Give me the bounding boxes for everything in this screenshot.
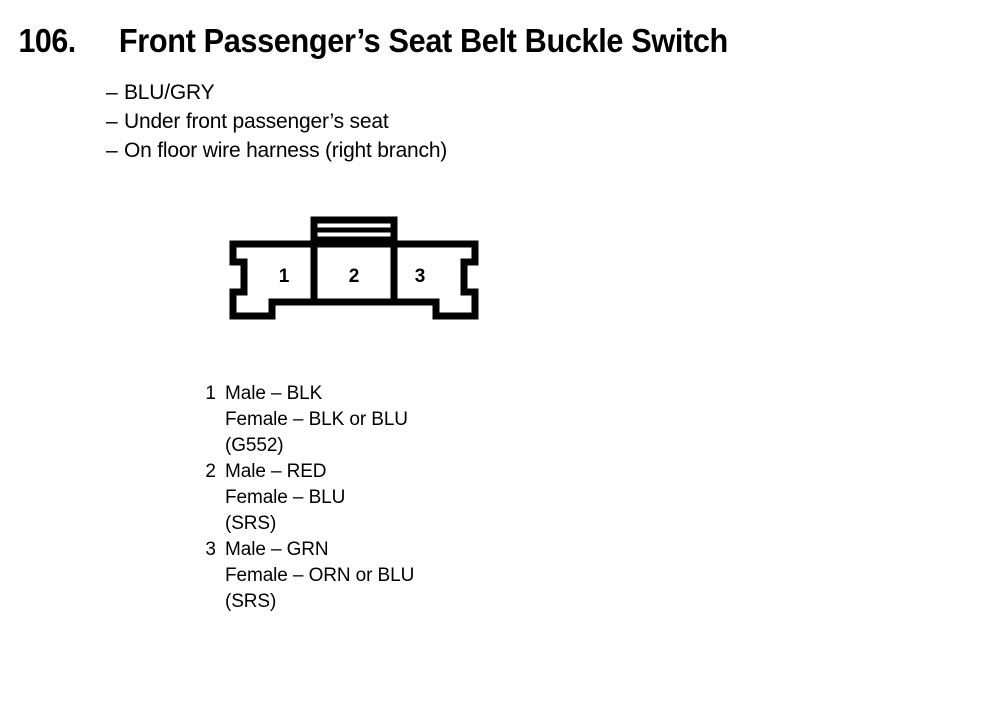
pin-legend-male-wire: Male – BLK (225, 381, 322, 407)
pin-legend-entry-head: 3 Male – GRN (196, 537, 414, 563)
dash-bullet-icon: – (106, 78, 124, 107)
pin-legend-entry-head: 1 Male – BLK (196, 381, 414, 407)
description-line: – On floor wire harness (right branch) (106, 136, 447, 165)
connector-outline-graphic: 1 2 3 (228, 216, 480, 328)
pin-legend-index: 1 (196, 381, 216, 407)
pin-legend-entry: 1 Male – BLK Female – BLK or BLU (G552) (196, 381, 414, 459)
pin-legend-entry-head: 2 Male – RED (196, 459, 414, 485)
pin-legend-female-wire: Female – BLU (225, 485, 414, 511)
pin-legend-list: 1 Male – BLK Female – BLK or BLU (G552) … (196, 381, 414, 615)
pin-cavity-number-2: 2 (349, 266, 360, 287)
page-title-text: Front Passenger’s Seat Belt Buckle Switc… (119, 22, 728, 60)
pin-legend-entry: 3 Male – GRN Female – ORN or BLU (SRS) (196, 537, 414, 615)
pin-cavity-number-1: 1 (279, 266, 290, 287)
pin-legend-female-wire: Female – ORN or BLU (225, 563, 414, 589)
description-line-text: Under front passenger’s seat (124, 107, 388, 136)
page-title-number: 106. (18, 22, 75, 60)
page-title: 106. Front Passenger’s Seat Belt Buckle … (16, 22, 751, 60)
pin-legend-note: (SRS) (225, 589, 414, 615)
pin-legend-male-wire: Male – GRN (225, 537, 329, 563)
pin-legend-index: 2 (196, 459, 216, 485)
pin-legend-female-wire: Female – BLK or BLU (225, 407, 414, 433)
dash-bullet-icon: – (106, 107, 124, 136)
pin-legend-entry: 2 Male – RED Female – BLU (SRS) (196, 459, 414, 537)
pin-legend-male-wire: Male – RED (225, 459, 326, 485)
description-line: – Under front passenger’s seat (106, 107, 447, 136)
connector-diagram: 1 2 3 (228, 216, 480, 328)
description-line-text: On floor wire harness (right branch) (124, 136, 447, 165)
pin-cavity-number-3: 3 (415, 266, 426, 287)
dash-bullet-icon: – (106, 136, 124, 165)
pin-legend-index: 3 (196, 537, 216, 563)
pin-legend-note: (SRS) (225, 511, 414, 537)
pin-legend-note: (G552) (225, 433, 414, 459)
description-list: – BLU/GRY – Under front passenger’s seat… (106, 78, 447, 165)
description-line: – BLU/GRY (106, 78, 447, 107)
description-line-text: BLU/GRY (124, 78, 214, 107)
